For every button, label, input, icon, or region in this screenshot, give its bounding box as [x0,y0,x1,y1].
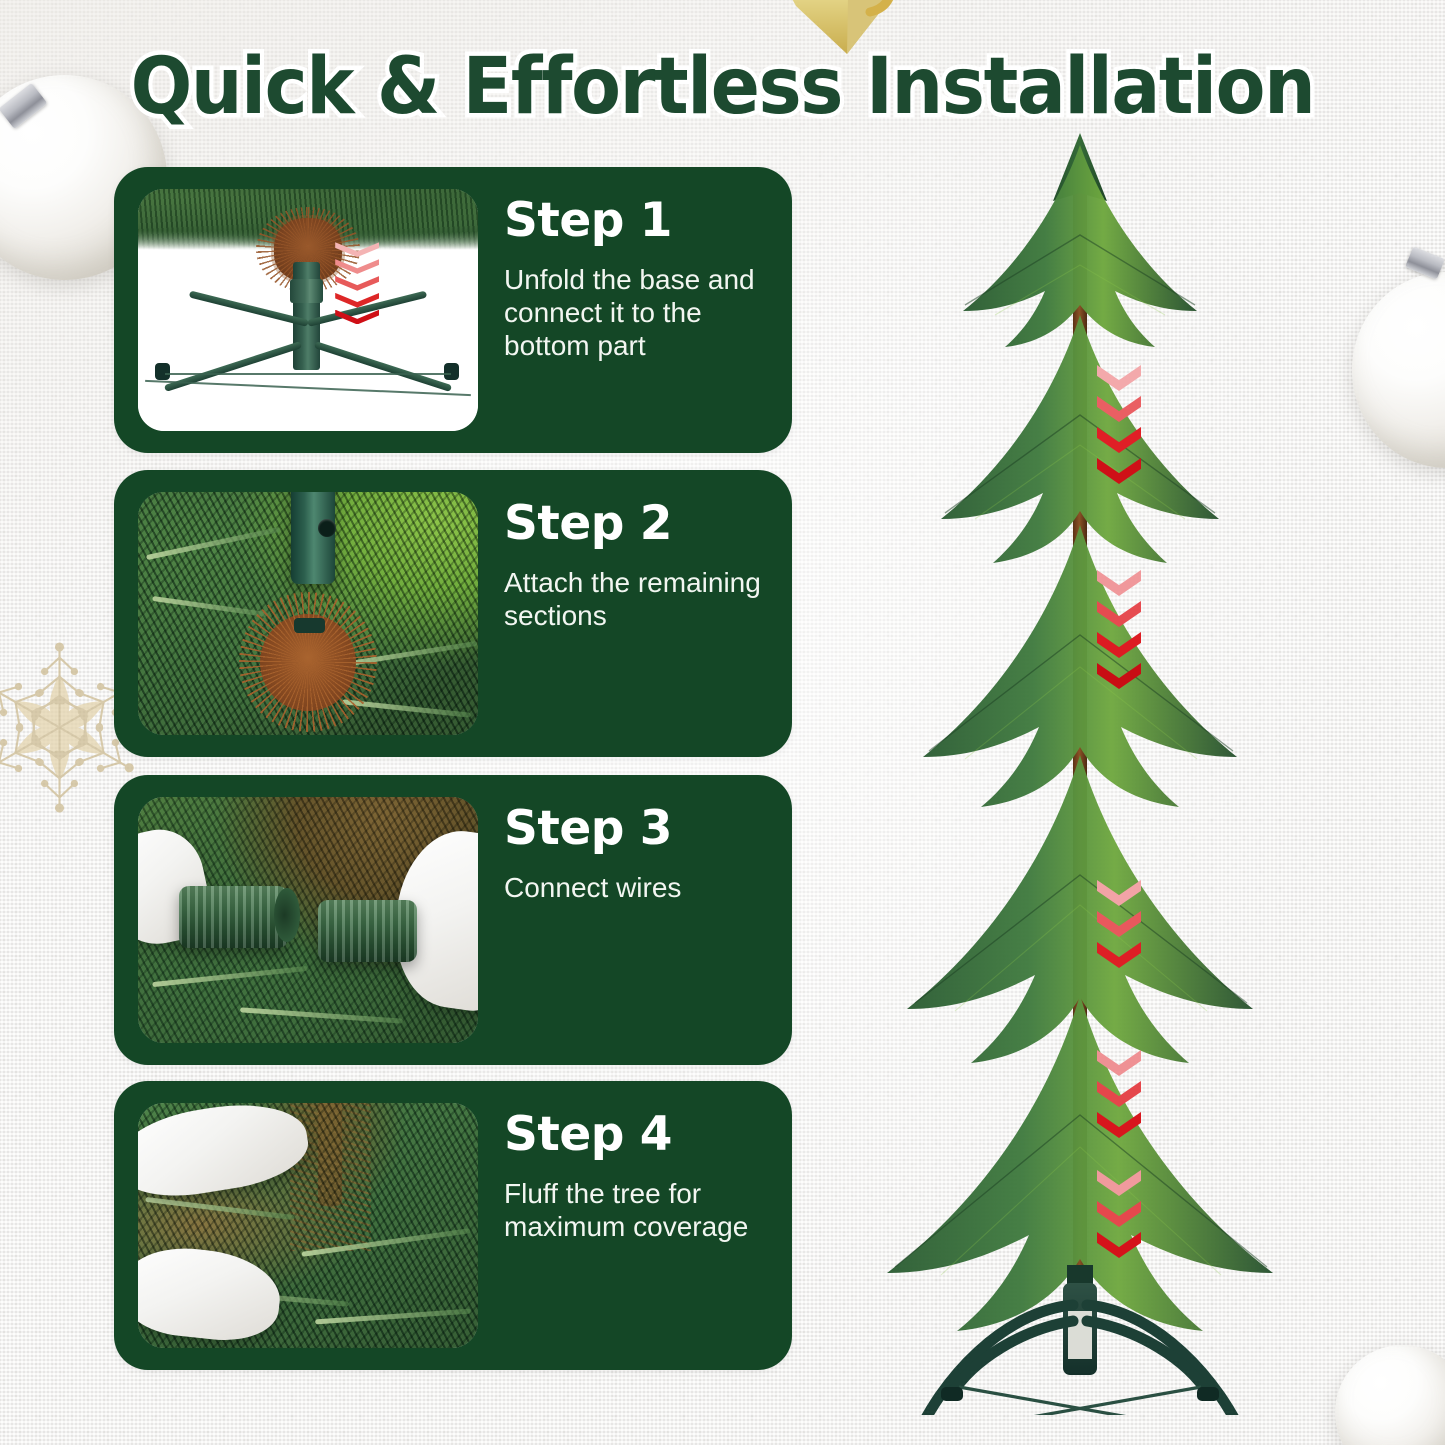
pole-sections-photo [138,492,478,735]
step-card-4[interactable]: Step 4 Fluff the tree for maximum covera… [114,1081,792,1370]
tree-assembly-arrows-5 [1097,1170,1141,1258]
step-4-thumbnail [138,1103,478,1348]
step-2-thumbnail [138,492,478,735]
step-2-title: Step 2 [504,500,770,547]
step-3-description: Connect wires [504,872,770,905]
tree-assembly-arrows-3 [1097,880,1141,968]
step-1-thumbnail [138,189,478,431]
step-card-2[interactable]: Step 2 Attach the remaining sections [114,470,792,757]
assembly-arrows [335,242,379,324]
step-1-title: Step 1 [504,197,770,244]
connector-left [179,886,288,948]
step-2-text: Step 2 Attach the remaining sections [478,470,792,757]
wire-connectors-photo [138,797,478,1043]
tree-illustration [845,115,1315,1415]
step-3-title: Step 3 [504,805,770,852]
step-3-thumbnail [138,797,478,1043]
step-4-description: Fluff the tree for maximum coverage [504,1178,770,1244]
step-1-text: Step 1 Unfold the base and connect it to… [478,167,792,453]
step-card-3[interactable]: Step 3 Connect wires [114,775,792,1065]
step-4-text: Step 4 Fluff the tree for maximum covera… [478,1081,792,1370]
tree-stand [903,1265,1257,1415]
fluff-branches-photo [138,1103,478,1348]
tree-assembly-arrows-4 [1097,1050,1141,1138]
tree-stand-unfold-photo [138,189,478,431]
step-3-text: Step 3 Connect wires [478,775,792,1065]
tree-assembly-arrows-2 [1097,570,1141,689]
step-1-description: Unfold the base and connect it to the bo… [504,264,770,362]
step-4-title: Step 4 [504,1111,770,1158]
christmas-tree-product-image [845,115,1315,1415]
step-card-1[interactable]: Step 1 Unfold the base and connect it to… [114,167,792,453]
step-2-description: Attach the remaining sections [504,567,770,633]
installation-infographic: Quick & Effortless Installation [0,0,1445,1445]
tree-assembly-arrows-1 [1097,365,1141,484]
connector-right [318,900,417,962]
